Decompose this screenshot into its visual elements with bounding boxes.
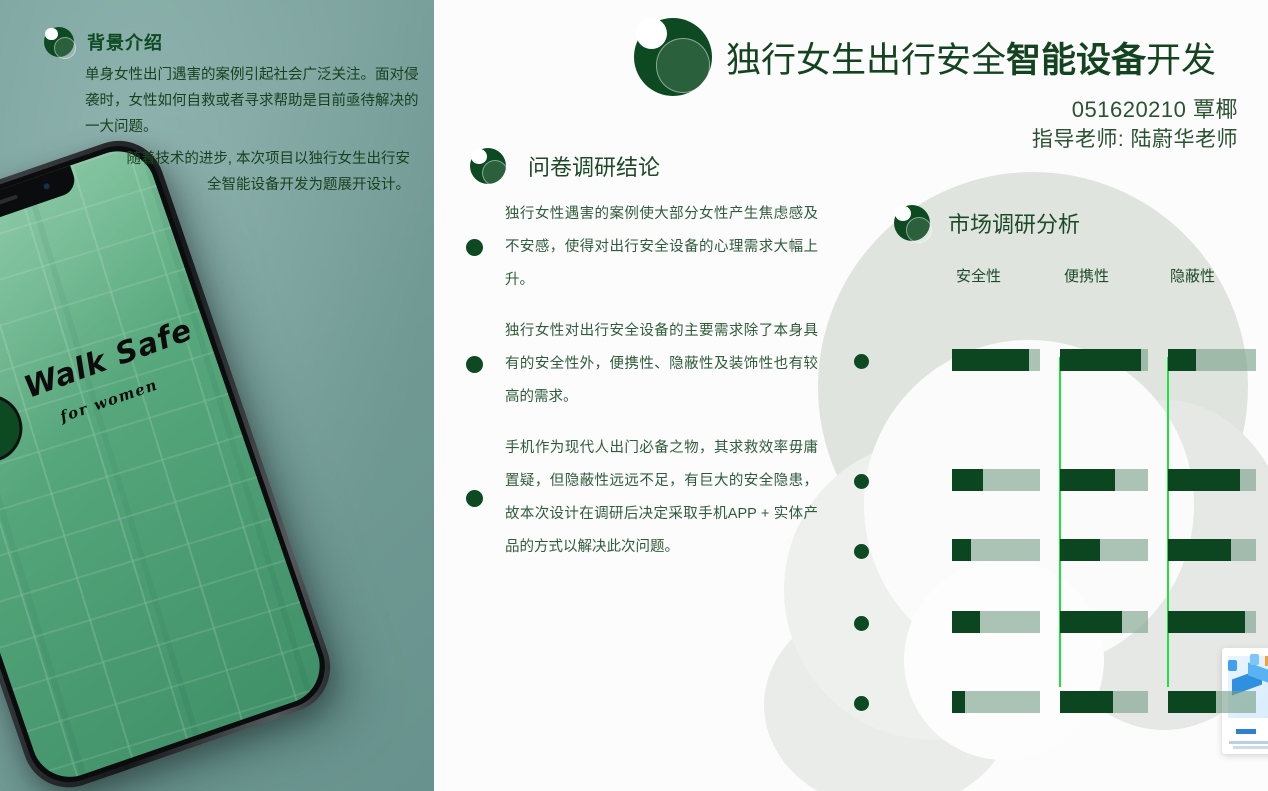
bar-fill bbox=[1168, 611, 1245, 633]
bullet-icon bbox=[466, 356, 483, 373]
phone-bezel: Walk Safe for women bbox=[0, 135, 336, 791]
bar-fill bbox=[952, 469, 983, 491]
bar-track-portability bbox=[1060, 539, 1148, 561]
bar-track-portability bbox=[1060, 469, 1148, 491]
row-bullet-icon bbox=[854, 544, 869, 559]
phone-body: Walk Safe for women bbox=[0, 128, 343, 791]
bar-fill bbox=[1060, 691, 1113, 713]
bar-track-concealment bbox=[1168, 611, 1256, 633]
bar-fill bbox=[1060, 349, 1141, 371]
brand-circle-icon bbox=[470, 148, 506, 184]
title-part-2: 开发 bbox=[1146, 41, 1216, 80]
bullet-icon bbox=[466, 239, 483, 256]
poster-title-row: 独行女生出行安全智能设备开发 bbox=[634, 18, 1216, 96]
list-item: 独行女性遇害的案例使大部分女性产生焦虑感及不安感，使得对出行安全设备的心理需求大… bbox=[466, 198, 818, 297]
market-section-title: 市场调研分析 bbox=[948, 207, 1080, 239]
bar-fill bbox=[1168, 469, 1240, 491]
column-header-0: 安全性 bbox=[956, 265, 1001, 286]
list-item: 手机作为现代人出门必备之物，其求救效率毋庸置疑，但隐蔽性远远不足，有巨大的安全隐… bbox=[466, 432, 818, 564]
background-section-title: 背景介绍 bbox=[87, 29, 163, 55]
bar-fill bbox=[1060, 469, 1115, 491]
background-section-header: 背景介绍 bbox=[44, 27, 163, 57]
background-paragraph-2: 随着技术的进步, 本次项目以独行女生出行安全智能设备开发为题展开设计。 bbox=[120, 146, 410, 198]
background-paragraph-1: 单身女性出门遇害的案例引起社会广泛关注。面对侵袭时，女性如何自救或者寻求帮助是目… bbox=[85, 62, 425, 140]
list-item: 独行女性对出行安全设备的主要需求除了本身具有的安全性外，便携性、隐蔽性及装饰性也… bbox=[466, 315, 818, 414]
chart-row bbox=[804, 343, 1264, 377]
title-part-bold: 智能设备 bbox=[1006, 41, 1146, 80]
survey-section-title: 问卷调研结论 bbox=[528, 150, 660, 182]
survey-item-text: 手机作为现代人出门必备之物，其求救效率毋庸置疑，但隐蔽性远远不足，有巨大的安全隐… bbox=[505, 432, 818, 564]
bar-track-concealment bbox=[1168, 691, 1256, 713]
bar-fill bbox=[1060, 539, 1100, 561]
page-title: 独行女生出行安全智能设备开发 bbox=[726, 32, 1216, 83]
brand-logo-icon bbox=[634, 18, 712, 96]
bar-fill bbox=[952, 611, 980, 633]
chart-column-headers: 安全性 便携性 隐蔽性 bbox=[952, 265, 1264, 295]
camera-icon bbox=[43, 182, 51, 190]
chart-row: ￥95.0 bbox=[804, 463, 1264, 497]
survey-item-text: 独行女性遇害的案例使大部分女性产生焦虑感及不安感，使得对出行安全设备的心理需求大… bbox=[505, 198, 818, 297]
bar-track-safety bbox=[952, 349, 1040, 371]
speaker-icon bbox=[0, 194, 18, 213]
bar-track-portability bbox=[1060, 611, 1148, 633]
chart-row: ￥169.0 bbox=[804, 685, 1264, 719]
background-intro-panel: Walk Safe for women 背景介绍 单身女性出门遇害的案例引起社会… bbox=[0, 0, 434, 791]
bar-track-concealment bbox=[1168, 539, 1256, 561]
bar-fill bbox=[1168, 349, 1196, 371]
column-header-1: 便携性 bbox=[1064, 265, 1109, 286]
column-header-2: 隐蔽性 bbox=[1170, 265, 1215, 286]
poster-canvas: Walk Safe for women 背景介绍 单身女性出门遇害的案例引起社会… bbox=[0, 0, 1268, 791]
market-research-chart: 安全性 便携性 隐蔽性 bbox=[804, 265, 1264, 735]
row-bullet-icon bbox=[854, 696, 869, 711]
bar-track-safety bbox=[952, 691, 1040, 713]
bar-track-safety bbox=[952, 469, 1040, 491]
survey-item-text: 独行女性对出行安全设备的主要需求除了本身具有的安全性外，便携性、隐蔽性及装饰性也… bbox=[505, 315, 818, 414]
brand-circle-icon bbox=[894, 205, 930, 241]
advisor-line: 指导老师: 陆蔚华老师 bbox=[1032, 123, 1238, 153]
market-section-header: 市场调研分析 bbox=[894, 205, 1080, 241]
author-line: 051620210 覃椰 bbox=[1072, 92, 1238, 124]
title-part-1: 独行女生出行安全 bbox=[726, 41, 1006, 80]
bar-track-portability bbox=[1060, 349, 1148, 371]
brand-circle-icon bbox=[44, 27, 74, 57]
walksafe-logo-icon bbox=[0, 385, 32, 471]
bar-track-concealment bbox=[1168, 349, 1256, 371]
bar-fill bbox=[1168, 539, 1231, 561]
main-content-area: 独行女生出行安全智能设备开发 051620210 覃椰 指导老师: 陆蔚华老师 … bbox=[434, 0, 1268, 791]
row-bullet-icon bbox=[854, 354, 869, 369]
chart-row: ￥126.0 bbox=[804, 605, 1264, 639]
bar-track-safety bbox=[952, 611, 1040, 633]
bar-track-portability bbox=[1060, 691, 1148, 713]
bar-track-safety bbox=[952, 539, 1040, 561]
survey-conclusion-list: 独行女性遇害的案例使大部分女性产生焦虑感及不安感，使得对出行安全设备的心理需求大… bbox=[466, 198, 818, 582]
survey-section-header: 问卷调研结论 bbox=[470, 148, 660, 184]
bar-track-concealment bbox=[1168, 469, 1256, 491]
row-bullet-icon bbox=[854, 474, 869, 489]
row-bullet-icon bbox=[854, 616, 869, 631]
bar-fill bbox=[1168, 691, 1216, 713]
bar-fill bbox=[952, 539, 971, 561]
phone-mockup: Walk Safe for women bbox=[0, 102, 431, 791]
bar-fill bbox=[1060, 611, 1122, 633]
bar-fill bbox=[952, 691, 965, 713]
bullet-icon bbox=[466, 490, 483, 507]
bar-fill bbox=[952, 349, 1029, 371]
chart-row: ￥126.0 bbox=[804, 533, 1264, 567]
